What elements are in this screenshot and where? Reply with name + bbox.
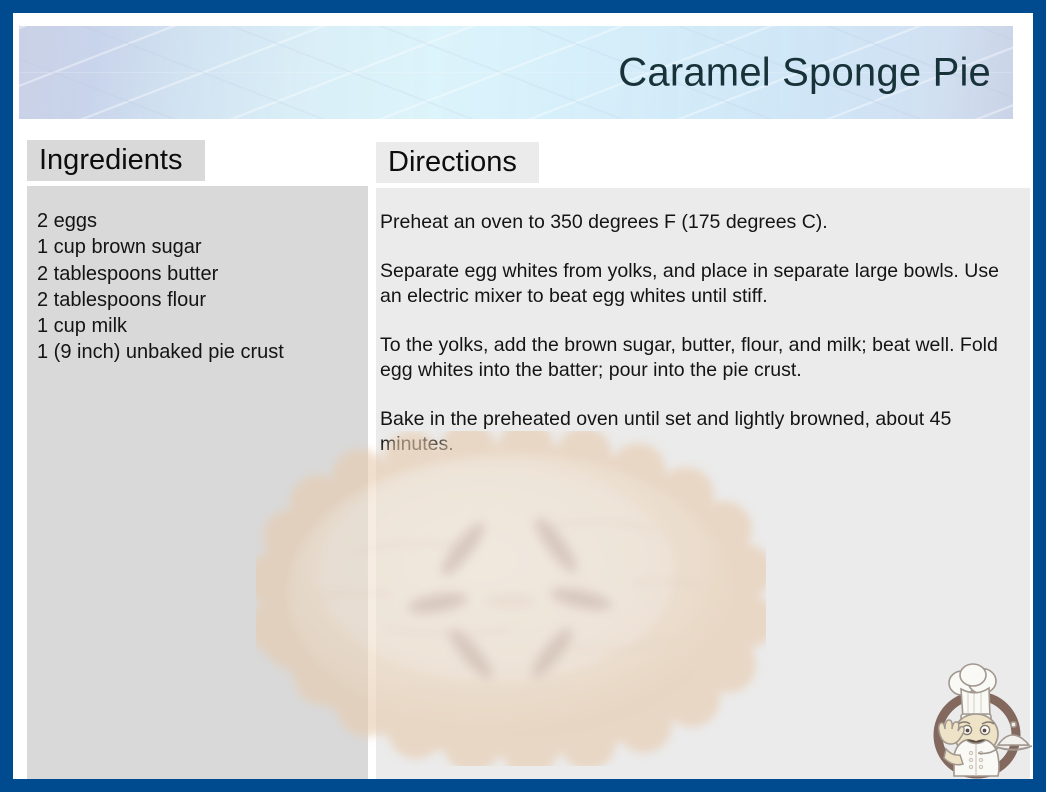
- ingredients-panel: 2 eggs 1 cup brown sugar 2 tablespoons b…: [27, 186, 368, 784]
- list-item: 1 cup milk: [37, 313, 354, 339]
- direction-step: Separate egg whites from yolks, and plac…: [380, 259, 1012, 309]
- header-banner: Caramel Sponge Pie: [19, 26, 1013, 119]
- list-item: 2 eggs: [37, 208, 354, 234]
- chef-mascot-logo-icon: [916, 661, 1038, 783]
- page-title: Caramel Sponge Pie: [618, 50, 991, 95]
- direction-step: Bake in the preheated oven until set and…: [380, 407, 1012, 457]
- panel-divider: [368, 186, 376, 784]
- direction-step: Preheat an oven to 350 degrees F (175 de…: [380, 210, 1012, 235]
- tab-directions[interactable]: Directions: [376, 142, 539, 183]
- list-item: 1 (9 inch) unbaked pie crust: [37, 339, 354, 365]
- list-item: 1 cup brown sugar: [37, 234, 354, 260]
- list-item: 2 tablespoons flour: [37, 287, 354, 313]
- recipe-slide: Caramel Sponge Pie Ingredients 2 eggs 1 …: [0, 0, 1046, 792]
- tab-ingredients[interactable]: Ingredients: [27, 140, 205, 181]
- direction-step: To the yolks, add the brown sugar, butte…: [380, 333, 1012, 383]
- list-item: 2 tablespoons butter: [37, 261, 354, 287]
